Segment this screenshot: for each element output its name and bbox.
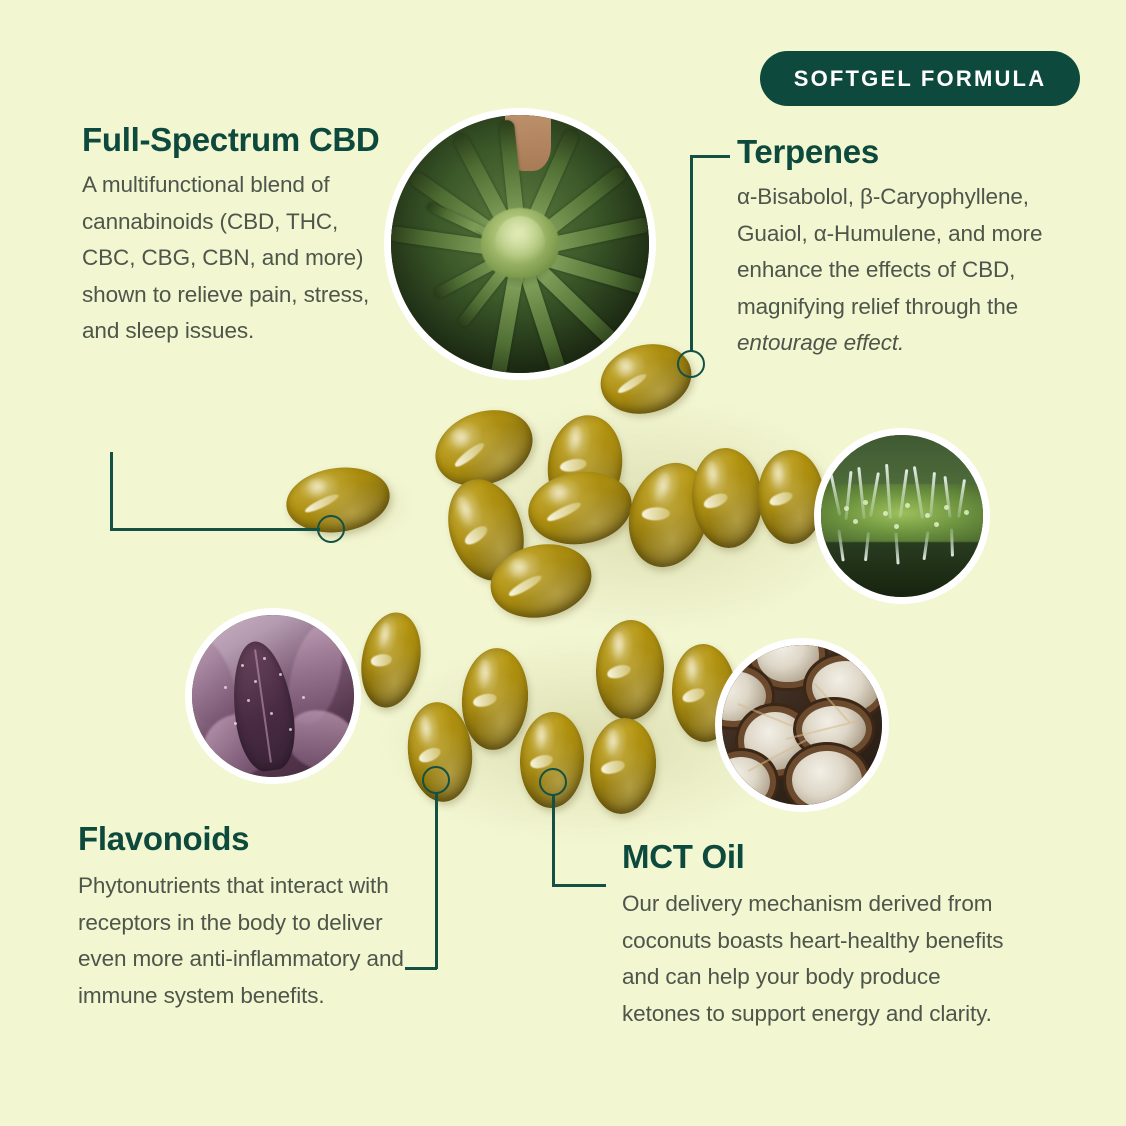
- terpenes-body-text: α-Bisabolol, β-Caryophyllene, Guaiol, α-…: [737, 184, 1042, 318]
- section-title-terpenes: Terpenes: [737, 133, 1087, 171]
- section-title-mct: MCT Oil: [622, 838, 1022, 876]
- purple-cannabis-leaf-photo: [185, 608, 361, 784]
- section-body-mct: Our delivery mechanism derived from coco…: [622, 886, 1022, 1032]
- trichome-macro-photo: [814, 428, 990, 604]
- softgel-formula-badge: SOFTGEL FORMULA: [760, 51, 1080, 106]
- badge-label: SOFTGEL FORMULA: [794, 66, 1047, 92]
- section-terpenes: Terpenes α-Bisabolol, β-Caryophyllene, G…: [737, 133, 1087, 361]
- coconut-halves-photo: [715, 638, 889, 812]
- infographic-canvas: SOFTGEL FORMULA: [0, 0, 1126, 1126]
- section-flavonoids: Flavonoids Phytonutrients that interact …: [78, 820, 423, 1014]
- section-mct-oil: MCT Oil Our delivery mechanism derived f…: [622, 838, 1022, 1032]
- section-title-flavonoids: Flavonoids: [78, 820, 423, 858]
- section-title-cbd: Full-Spectrum CBD: [82, 121, 382, 159]
- cannabis-plant-photo: [384, 108, 656, 380]
- section-body-flavonoids: Phytonutrients that interact with recept…: [78, 868, 423, 1014]
- terpenes-entourage-effect: entourage effect.: [737, 330, 904, 355]
- section-body-cbd: A multifunctional blend of cannabinoids …: [82, 167, 382, 349]
- section-body-terpenes: α-Bisabolol, β-Caryophyllene, Guaiol, α-…: [737, 179, 1087, 361]
- section-full-spectrum-cbd: Full-Spectrum CBD A multifunctional blen…: [82, 121, 382, 349]
